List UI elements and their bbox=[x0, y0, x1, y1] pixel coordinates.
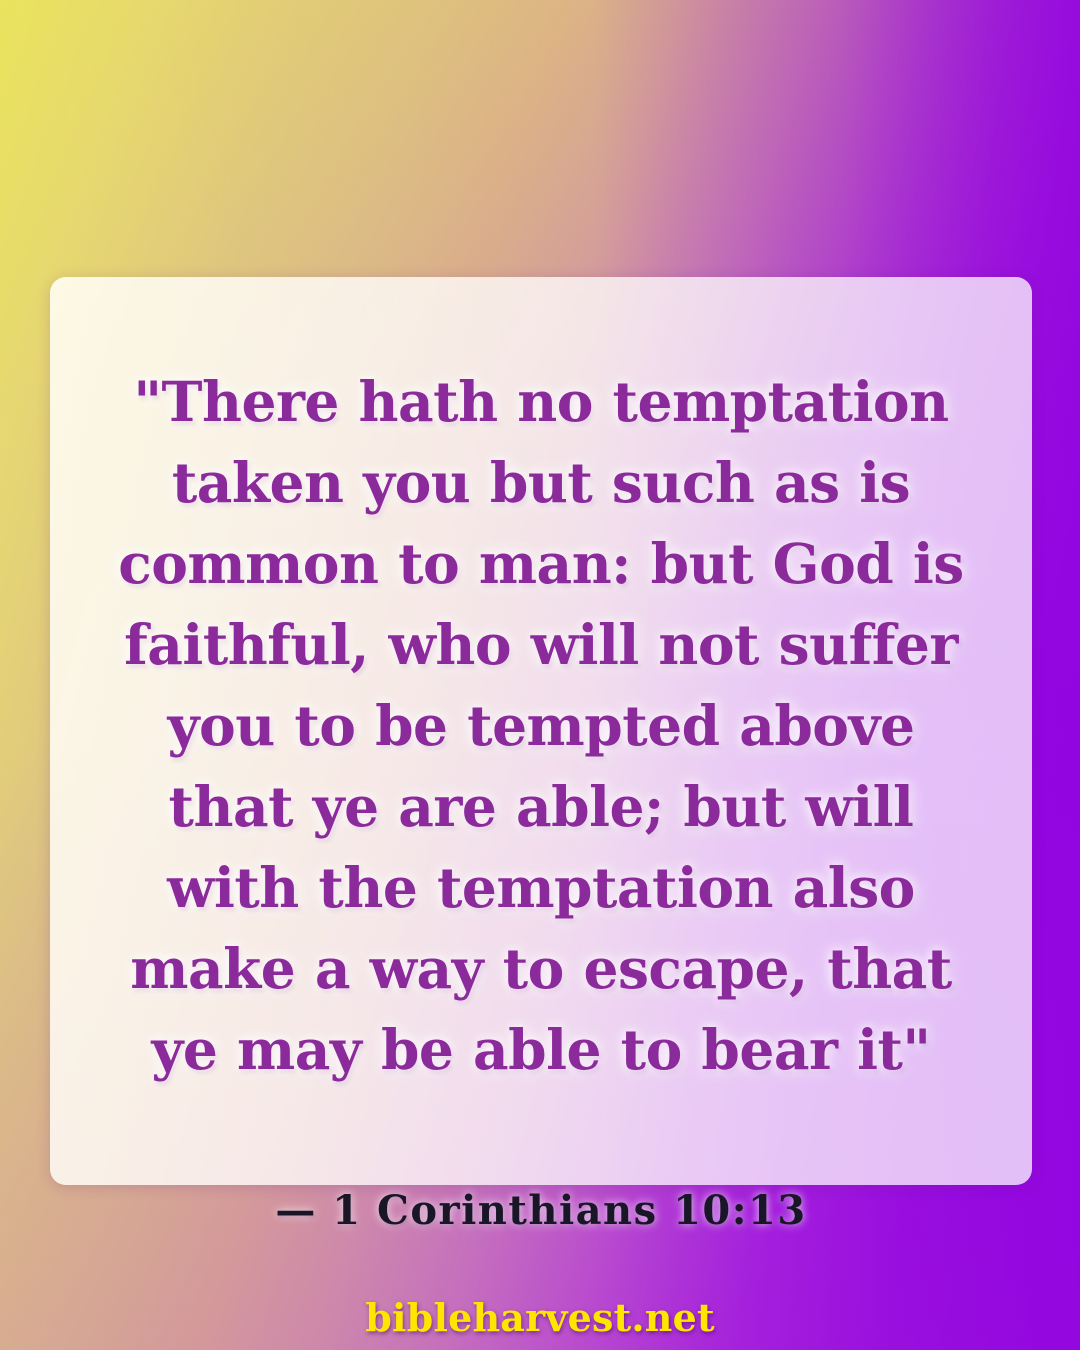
site-name-watermark: bibleharvest.net bbox=[0, 1295, 1080, 1340]
scripture-attribution: — 1 Corinthians 10:13 bbox=[275, 1187, 806, 1234]
quote-card: "There hath no temptation taken you but … bbox=[50, 277, 1032, 1185]
scripture-quote-text: "There hath no temptation taken you but … bbox=[106, 361, 976, 1090]
verse-poster: "There hath no temptation taken you but … bbox=[0, 0, 1080, 1350]
